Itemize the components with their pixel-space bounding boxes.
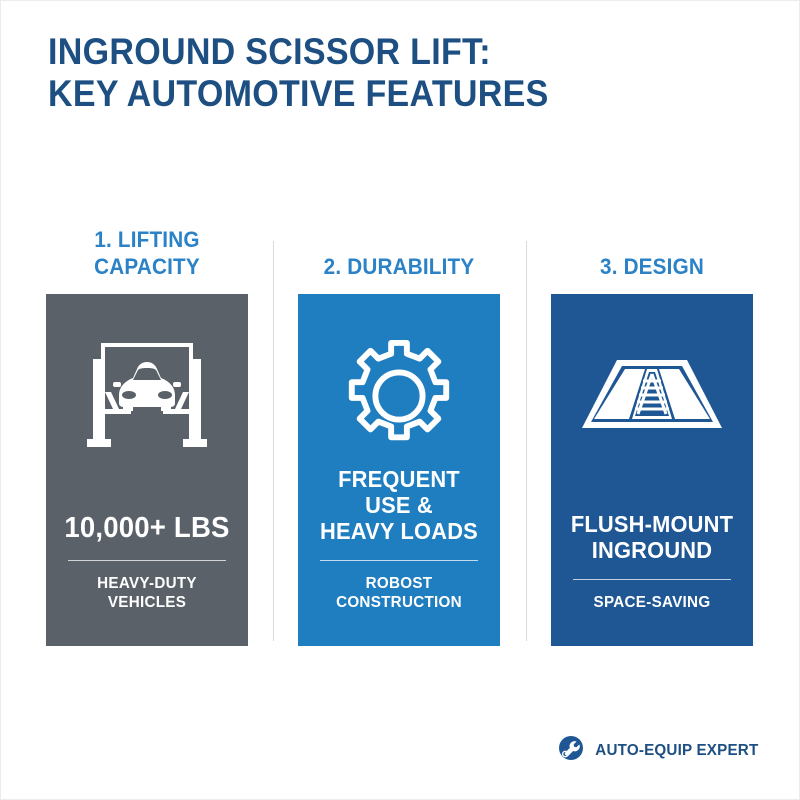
car-lift-icon [85, 336, 209, 456]
card-rule-1 [68, 560, 226, 561]
gear-icon [340, 336, 458, 456]
card-primary-text-3-line-2: INGROUND [569, 537, 734, 563]
feature-card-lifting-capacity: 10,000+ LBS HEAVY-DUTY VEHICLES [46, 294, 248, 646]
page-title: INGROUND SCISSOR LIFT: KEY AUTOMOTIVE FE… [48, 31, 748, 115]
title-line-1: INGROUND SCISSOR LIFT: [48, 31, 692, 73]
card-body-2: FREQUENT USE & HEAVY LOADS ROBOST CONSTR… [298, 466, 500, 612]
footer-brand: AUTO-EQUIP EXPERT [558, 735, 763, 766]
card-secondary-text-1: HEAVY-DUTY VEHICLES [64, 574, 229, 612]
card-body-3: FLUSH-MOUNT INGROUND SPACE-SAVING [551, 511, 753, 612]
column-heading-2: 2. DURABILITY [304, 226, 494, 280]
title-line-2: KEY AUTOMOTIVE FEATURES [48, 73, 692, 115]
card-secondary-text-2: ROBOST CONSTRUCTION [316, 574, 481, 612]
card-primary-text-2: FREQUENT USE & HEAVY LOADS [316, 466, 481, 544]
feature-card-durability: FREQUENT USE & HEAVY LOADS ROBOST CONSTR… [298, 294, 500, 646]
card-primary-text-2-line-1: FREQUENT USE & [316, 466, 481, 518]
feature-column-design: 3. DESIGN [551, 226, 753, 646]
column-divider-1 [273, 241, 274, 641]
card-secondary-text-3: SPACE-SAVING [569, 593, 734, 612]
column-heading-1-line-2: CAPACITY [52, 253, 242, 280]
card-body-1: 10,000+ LBS HEAVY-DUTY VEHICLES [46, 512, 248, 612]
column-heading-3-line-1: 3. DESIGN [557, 253, 747, 280]
card-primary-text-1: 10,000+ LBS [64, 512, 229, 544]
column-heading-1: 1. LIFTING CAPACITY [52, 226, 242, 280]
feature-column-durability: 2. DURABILITY FREQUENT USE & HEAVY LOADS… [298, 226, 500, 646]
feature-card-design: FLUSH-MOUNT INGROUND SPACE-SAVING [551, 294, 753, 646]
column-divider-2 [526, 241, 527, 641]
inground-platform-icon [577, 336, 727, 456]
feature-column-lifting-capacity: 1. LIFTING CAPACITY [46, 226, 248, 646]
card-primary-text-3-line-1: FLUSH-MOUNT [569, 511, 734, 537]
card-rule-2 [320, 560, 478, 561]
card-primary-text-3: FLUSH-MOUNT INGROUND [569, 511, 734, 563]
column-heading-2-line-1: 2. DURABILITY [304, 253, 494, 280]
column-heading-3: 3. DESIGN [557, 226, 747, 280]
column-heading-1-line-1: 1. LIFTING [52, 226, 242, 253]
infographic-canvas: INGROUND SCISSOR LIFT: KEY AUTOMOTIVE FE… [0, 0, 800, 800]
brand-name: AUTO-EQUIP EXPERT [596, 742, 759, 760]
wrench-gear-logo-icon [558, 735, 584, 766]
card-rule-3 [573, 579, 731, 580]
card-primary-text-2-line-2: HEAVY LOADS [316, 518, 481, 544]
